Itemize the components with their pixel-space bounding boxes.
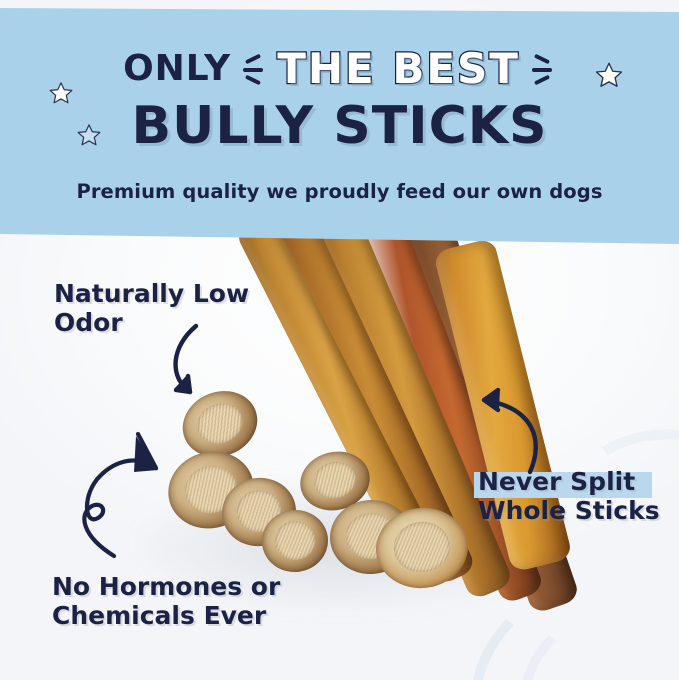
annotation-line-2: Odor	[54, 308, 249, 337]
headline-row: ONLY THE BEST	[0, 44, 679, 93]
header-banner: ONLY THE BEST BULLY STICKS Premium quali…	[0, 8, 679, 244]
annotation-line-2: Chemicals Ever	[52, 601, 280, 630]
burst-icon	[530, 49, 556, 89]
annotation-no-hormones-or-chemicals-ever: No Hormones or Chemicals Ever	[52, 572, 280, 630]
annotation-line-1: No Hormones or	[52, 572, 280, 601]
headline-bully-sticks: BULLY STICKS	[0, 96, 679, 156]
banner-subtitle: Premium quality we proudly feed our own …	[0, 180, 679, 203]
headline-only: ONLY	[123, 48, 231, 89]
annotation-never-split-whole-sticks: Never Split Whole Sticks	[478, 467, 660, 525]
annotation-line-1: Never Split	[478, 467, 660, 496]
annotation-line-1: Naturally Low	[54, 279, 249, 308]
headline-the-best: THE BEST	[277, 44, 520, 93]
burst-icon	[241, 49, 267, 89]
product-infographic: ONLY THE BEST BULLY STICKS Premium quali…	[0, 0, 679, 680]
annotation-naturally-low-odor: Naturally Low Odor	[54, 279, 249, 337]
annotation-line-2: Whole Sticks	[478, 496, 660, 525]
